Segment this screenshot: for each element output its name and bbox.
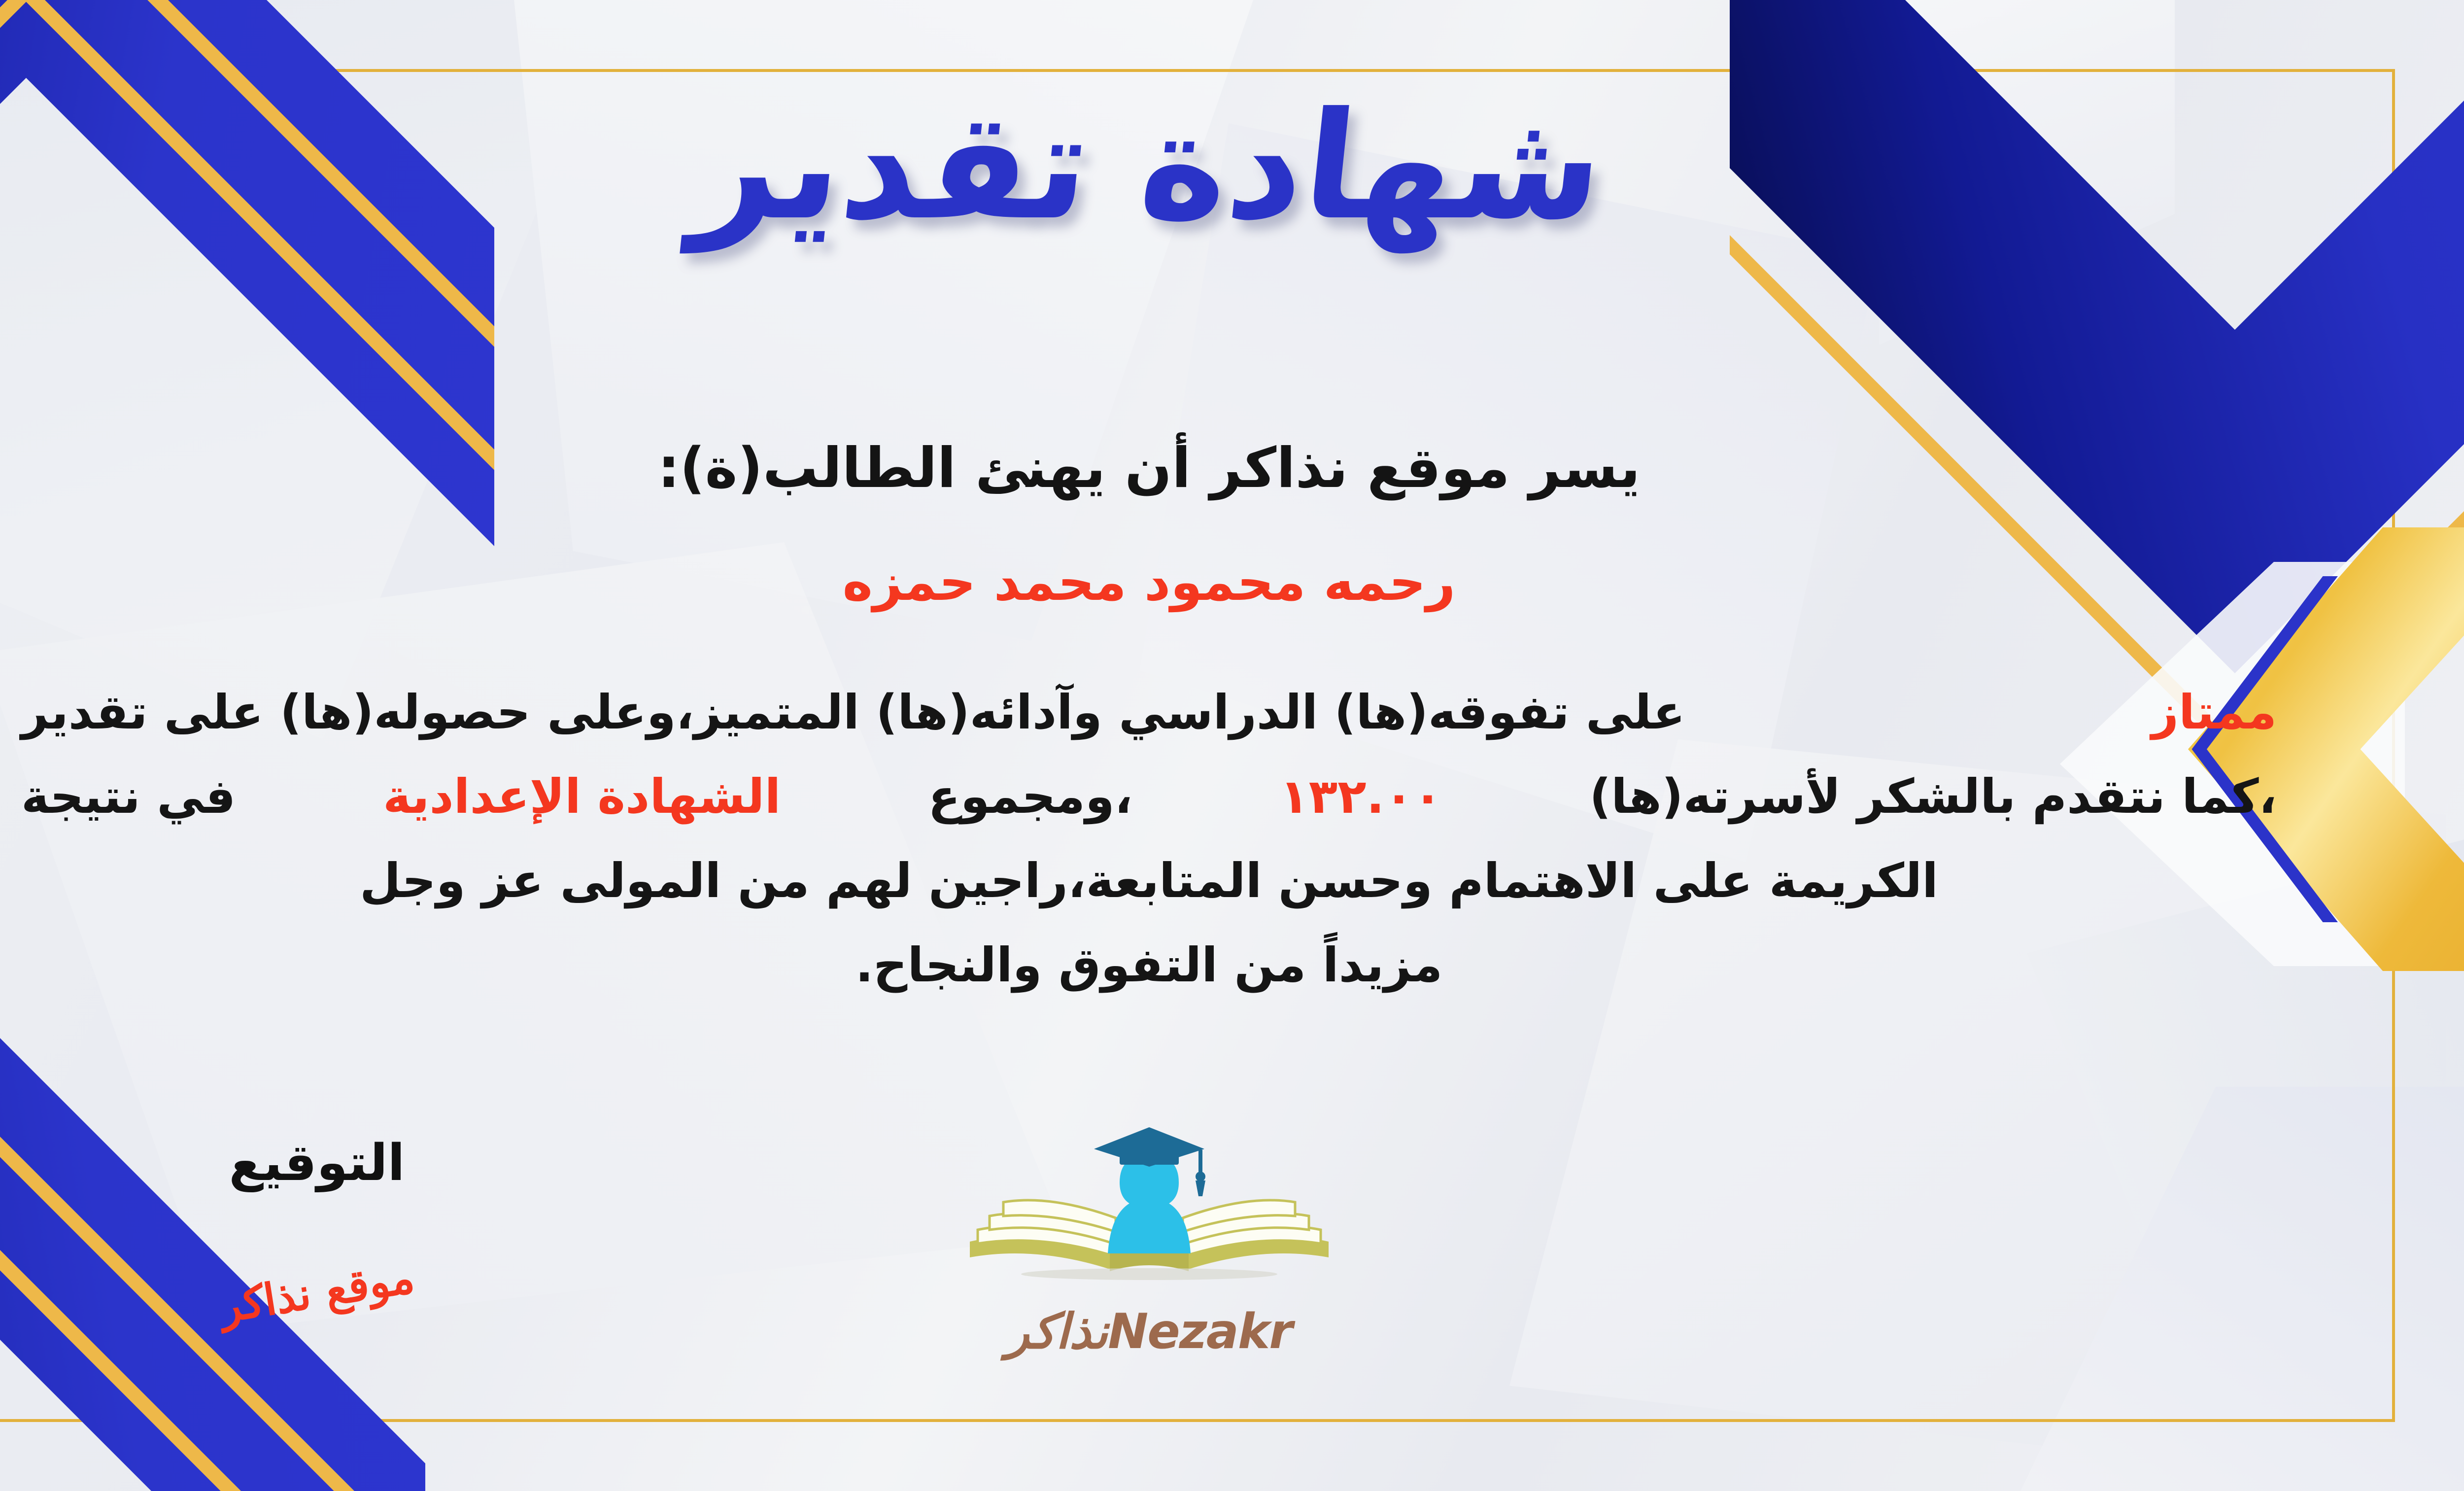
body-line-1-text: على تفوقه(ها) الدراسي وآدائه(ها) المتميز… — [21, 670, 1685, 755]
body-line-2-part2: ،ومجموع — [928, 755, 1132, 839]
student-name: رحمه محمود محمد حمزه — [0, 552, 2464, 612]
greeting-line: يسر موقع نذاكر أن يهنئ الطالب(ة): — [0, 436, 2464, 500]
body-line-4: مزيداً من التفوق والنجاح. — [21, 923, 2277, 1007]
body-line-1: ممتاز على تفوقه(ها) الدراسي وآدائه(ها) ا… — [21, 670, 2277, 755]
score-highlight: ١٣٢.٠٠ — [1280, 755, 1442, 839]
certificate-content: شهادة تقدير يسر موقع نذاكر أن يهنئ الطال… — [0, 0, 2464, 1491]
logo-arabic-text: نذاكر — [1006, 1304, 1108, 1360]
certificate-title: شهادة تقدير — [0, 74, 2464, 259]
signature-script: موقع نذاكر — [216, 1251, 417, 1333]
logo-latin-text: Nezakr — [1108, 1304, 1292, 1360]
body-line-2-part3: ،كما نتقدم بالشكر لأسرته(ها) — [1589, 755, 2277, 839]
certificate-body: ممتاز على تفوقه(ها) الدراسي وآدائه(ها) ا… — [21, 670, 2277, 1007]
exam-name-highlight: الشهادة الإعدادية — [383, 755, 781, 839]
logo-wordmark: Nezakrنذاكر — [962, 1304, 1336, 1360]
grade-highlight: ممتاز — [2152, 670, 2277, 755]
signature-block: التوقيع موقع نذاكر — [149, 1134, 484, 1318]
signature-label: التوقيع — [149, 1134, 484, 1192]
body-line-3: الكريمة على الاهتمام وحسن المتابعة،راجين… — [21, 839, 2277, 923]
graduation-book-logo-icon — [962, 1121, 1336, 1309]
body-line-2: ،كما نتقدم بالشكر لأسرته(ها) ١٣٢.٠٠ ،ومج… — [21, 755, 2277, 839]
site-logo: Nezakrنذاكر — [962, 1121, 1336, 1360]
body-line-2-part1: في نتيجة — [21, 755, 236, 839]
certificate-canvas: شهادة تقدير يسر موقع نذاكر أن يهنئ الطال… — [0, 0, 2464, 1491]
